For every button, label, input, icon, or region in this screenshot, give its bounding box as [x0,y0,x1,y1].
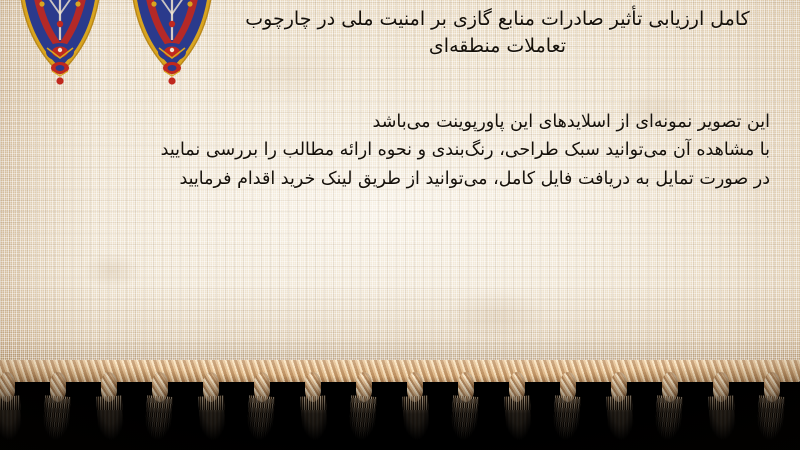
fringe-tassel-skirt [606,395,635,446]
fringe-tassel-skirt [42,395,71,447]
body-line-1: این تصویر نمونه‌ای از اسلایدهای این پاور… [30,108,770,136]
slide-body-text: این تصویر نمونه‌ای از اسلایدهای این پاور… [30,108,770,193]
fringe-tassel [349,372,379,446]
fringe-tassel [706,372,736,446]
fringe-tassel-skirt [300,395,329,446]
fringe-tassel [604,372,634,446]
fringe-tassel-skirt [504,395,533,446]
fringe-tassel-skirt [552,395,581,447]
fringe-tassel-skirt [756,395,785,447]
fringe-tassel [43,372,73,446]
fringe-tassel [400,372,430,446]
fringe-tassel [298,372,328,446]
fringe-tassel-skirt [96,395,125,446]
fringe-tassel-skirt [144,395,173,447]
body-line-2: با مشاهده آن می‌توانید سبک طراحی، رنگ‌بن… [30,136,770,164]
fringe-tassel-skirt [450,395,479,447]
slide-canvas: کامل ارزیابی تأثیر صادرات منابع گازی بر … [0,0,800,450]
slide-title-line-1: کامل ارزیابی تأثیر صادرات منابع گازی بر … [318,8,750,30]
fringe-tassel [451,372,481,446]
fringe-tassel [196,372,226,446]
fringe-tassel [145,372,175,446]
body-line-3: در صورت تمایل به دریافت فایل کامل، می‌تو… [30,165,770,193]
fringe-tassel-skirt [348,395,377,447]
fringe-tassel [502,372,532,446]
fringe-tassel [94,372,124,446]
slide-title: کامل ارزیابی تأثیر صادرات منابع گازی بر … [225,6,770,60]
fringe-tassel [247,372,277,446]
fringe-tassel-skirt [708,395,737,446]
fringe-tassel [0,372,22,446]
fringe-tassel [757,372,787,446]
fringe-tassel-skirt [0,395,23,446]
fringe-tassel-skirt [246,395,275,447]
fringe-tassel-skirt [198,395,227,446]
fringe-tassel [553,372,583,446]
fringe-tassel-skirt [654,395,683,447]
carpet-fringe [0,360,800,450]
fringe-tassel [655,372,685,446]
fringe-tassel-skirt [402,395,431,446]
